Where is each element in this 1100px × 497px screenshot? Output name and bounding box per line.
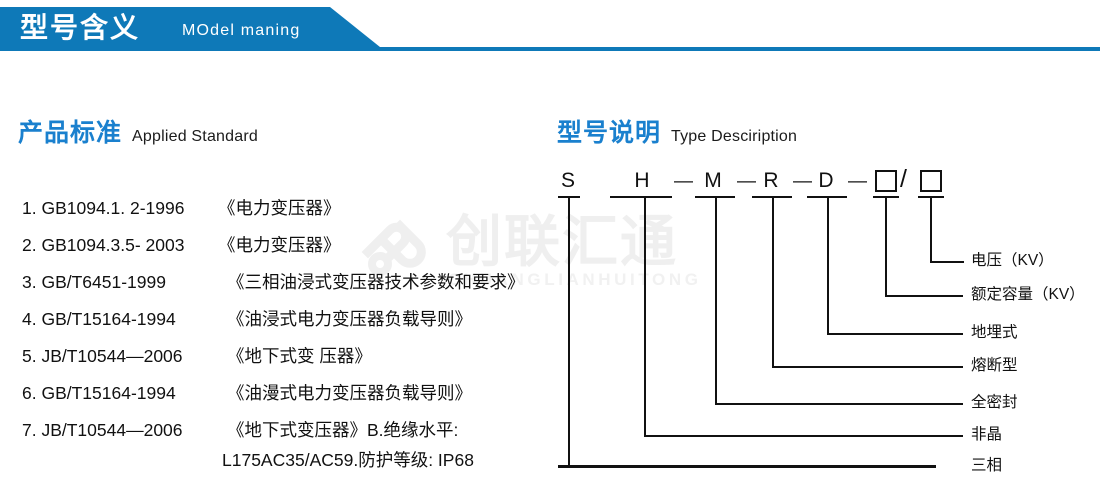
- standard-code: 7. JB/T10544—2006: [22, 412, 227, 449]
- list-item: 7. JB/T10544—2006《地下式变压器》B.绝缘水平:: [22, 412, 542, 449]
- list-item: 6. GB/T15164-1994《油漫式电力变压器负载导则》: [22, 375, 542, 412]
- code-separator-3: —: [793, 169, 812, 195]
- standard-code: 2. GB1094.3.5- 2003: [22, 227, 218, 264]
- code-separator-1: —: [674, 169, 693, 195]
- standard-name: 《电力变压器》: [218, 227, 341, 264]
- leader-vertical-voltage: [930, 196, 932, 263]
- leader-horizontal-capacity: [885, 295, 963, 297]
- leader-vertical-buried: [827, 196, 829, 335]
- header-title-cn: 型号含义: [20, 11, 140, 45]
- list-item: 1. GB1094.1. 2-1996《电力变压器》: [22, 190, 542, 227]
- legend-label-voltage: 电压（KV）: [971, 251, 1054, 271]
- standard-name: 《地下式变压器》B.绝缘水平:: [227, 412, 458, 449]
- leader-join-voltage: [963, 261, 964, 263]
- typedesc-heading-cn: 型号说明: [557, 119, 661, 147]
- legend-label-capacity: 额定容量（KV）: [971, 285, 1085, 305]
- standard-code: 3. GB/T6451-1999: [22, 264, 227, 301]
- typedesc-heading: 型号说明Type Desciription: [557, 113, 797, 149]
- code-separator-slash: /: [900, 166, 907, 192]
- header-title-en: MOdel maning: [182, 21, 300, 41]
- code-char-s: S: [558, 168, 578, 194]
- standard-code: 1. GB1094.1. 2-1996: [22, 190, 218, 227]
- leader-vertical-capacity: [885, 196, 887, 297]
- standard-name: 《油浸式电力变压器负载导则》: [227, 301, 472, 338]
- list-item: 2. GB1094.3.5- 2003《电力变压器》: [22, 227, 542, 264]
- standard-code: 5. JB/T10544—2006: [22, 338, 227, 375]
- leader-vertical-amorphous: [644, 196, 646, 437]
- list-item: 3. GB/T6451-1999《三相油浸式变压器技术参数和要求》: [22, 264, 542, 301]
- legend-label-amorphous: 非晶: [971, 425, 1002, 445]
- standard-name: 《油漫式电力变压器负载导则》: [227, 375, 472, 412]
- header-blue-rule: [330, 47, 1100, 51]
- code-char-d: D: [816, 168, 836, 194]
- code-char-r: R: [761, 168, 781, 194]
- leader-vertical-threephase: [568, 198, 570, 466]
- model-code-diagram: S H — M — R — D — / 电压（KV） 额定容量（KV） 地埋式 …: [548, 160, 1100, 490]
- legend-label-fuse: 熔断型: [971, 356, 1018, 376]
- code-char-h: H: [632, 168, 652, 194]
- code-separator-2: —: [737, 169, 756, 195]
- leader-horizontal-threephase: [558, 465, 936, 468]
- list-item: 5. JB/T10544—2006《地下式变 压器》: [22, 338, 542, 375]
- code-box-capacity: [875, 170, 897, 192]
- standard-name: 《电力变压器》: [218, 190, 341, 227]
- standard-name: 《三相油浸式变压器技术参数和要求》: [227, 264, 525, 301]
- standard-name: 《地下式变 压器》: [227, 338, 372, 375]
- leader-horizontal-fuse: [772, 366, 963, 368]
- standards-heading-cn: 产品标准: [18, 119, 122, 147]
- leader-horizontal-sealed: [715, 403, 963, 405]
- standard-continuation: L175AC35/AC59.防护等级: IP68: [222, 448, 474, 472]
- leader-vertical-sealed: [715, 196, 717, 405]
- standard-code: 4. GB/T15164-1994: [22, 301, 227, 338]
- legend-label-sealed: 全密封: [971, 393, 1018, 413]
- standard-code: 6. GB/T15164-1994: [22, 375, 227, 412]
- standards-list: 1. GB1094.1. 2-1996《电力变压器》 2. GB1094.3.5…: [22, 190, 542, 449]
- typedesc-heading-en: Type Desciription: [671, 128, 797, 145]
- code-separator-4: —: [848, 169, 867, 195]
- leader-horizontal-buried: [827, 333, 963, 335]
- page-header: 型号含义 MOdel maning: [0, 0, 1100, 55]
- list-item: 4. GB/T15164-1994《油浸式电力变压器负载导则》: [22, 301, 542, 338]
- standards-heading: 产品标准Applied Standard: [18, 113, 258, 149]
- code-underline-h: [610, 196, 672, 198]
- code-box-voltage: [920, 170, 942, 192]
- legend-label-threephase: 三相: [971, 456, 1002, 476]
- leader-horizontal-voltage: [930, 261, 963, 263]
- legend-label-buried: 地埋式: [971, 323, 1018, 343]
- code-char-m: M: [703, 168, 723, 194]
- standards-heading-en: Applied Standard: [132, 128, 258, 145]
- leader-vertical-fuse: [772, 196, 774, 368]
- leader-horizontal-amorphous: [644, 435, 963, 437]
